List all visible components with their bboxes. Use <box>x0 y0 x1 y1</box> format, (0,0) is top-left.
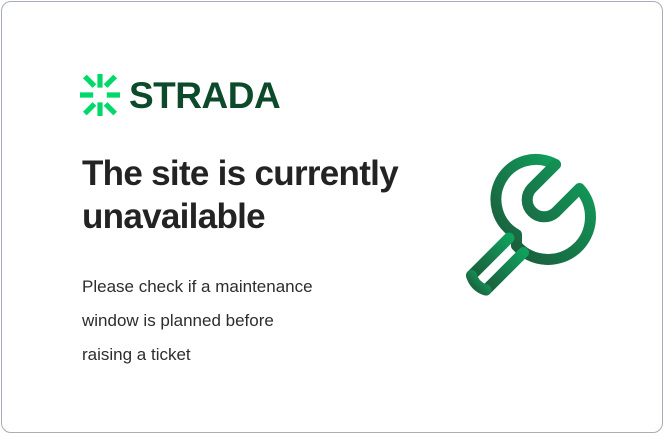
status-card: STRADA The site is currently unavailable… <box>1 1 663 433</box>
brand-wordmark: STRADA <box>129 77 280 114</box>
description-line: raising a ticket <box>82 338 402 372</box>
description-line: Please check if a maintenance <box>82 270 402 304</box>
strada-asterisk-icon <box>80 74 120 116</box>
brand-logo: STRADA <box>80 74 280 116</box>
description-line: window is planned before <box>82 304 402 338</box>
page-description: Please check if a maintenance window is … <box>82 270 402 372</box>
wrench-icon <box>454 150 616 312</box>
page-title: The site is currently unavailable <box>82 153 412 238</box>
